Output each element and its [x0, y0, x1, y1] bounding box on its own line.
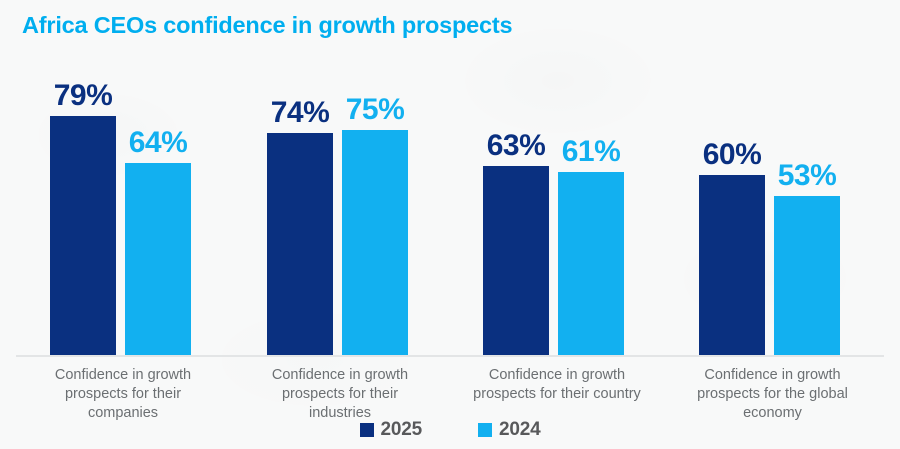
bar-value-2024-global-economy: 53%: [770, 159, 844, 193]
legend-item-2024[interactable]: 2024: [478, 419, 540, 441]
chart-container: Africa CEOs confidence in growth prospec…: [0, 0, 900, 449]
chart-legend: 2025 2024: [0, 419, 900, 441]
legend-label-2025: 2025: [381, 419, 422, 441]
bar-2025-country[interactable]: [483, 166, 549, 355]
category-label-industries: Confidence in growth prospects for their…: [245, 366, 435, 423]
x-axis-line: [16, 355, 884, 357]
bar-value-2025-country: 63%: [479, 129, 553, 163]
category-label-global-economy: Confidence in growth prospects for the g…: [675, 366, 870, 423]
bar-value-2024-industries: 75%: [338, 93, 412, 127]
bar-value-2025-companies: 79%: [46, 79, 120, 113]
bar-2025-industries[interactable]: [267, 133, 333, 355]
bar-2024-companies[interactable]: [125, 163, 191, 355]
bar-2025-companies[interactable]: [50, 116, 116, 355]
bar-value-2024-companies: 64%: [121, 126, 195, 160]
category-label-companies: Confidence in growth prospects for their…: [28, 366, 218, 423]
bar-2024-industries[interactable]: [342, 130, 408, 355]
bar-2024-country[interactable]: [558, 172, 624, 355]
bar-2024-global-economy[interactable]: [774, 196, 840, 355]
bar-2025-global-economy[interactable]: [699, 175, 765, 355]
bar-value-2025-industries: 74%: [263, 96, 337, 130]
legend-item-2025[interactable]: 2025: [360, 419, 422, 441]
bar-value-2025-global-economy: 60%: [695, 138, 769, 172]
plot-area: 79% 64% 74% 75% 63% 61% 60% 53% Confiden…: [0, 0, 900, 449]
legend-swatch-icon-2024: [478, 423, 492, 437]
legend-swatch-icon-2025: [360, 423, 374, 437]
bar-value-2024-country: 61%: [554, 135, 628, 169]
legend-label-2024: 2024: [499, 419, 540, 441]
category-label-country: Confidence in growth prospects for their…: [457, 366, 657, 404]
